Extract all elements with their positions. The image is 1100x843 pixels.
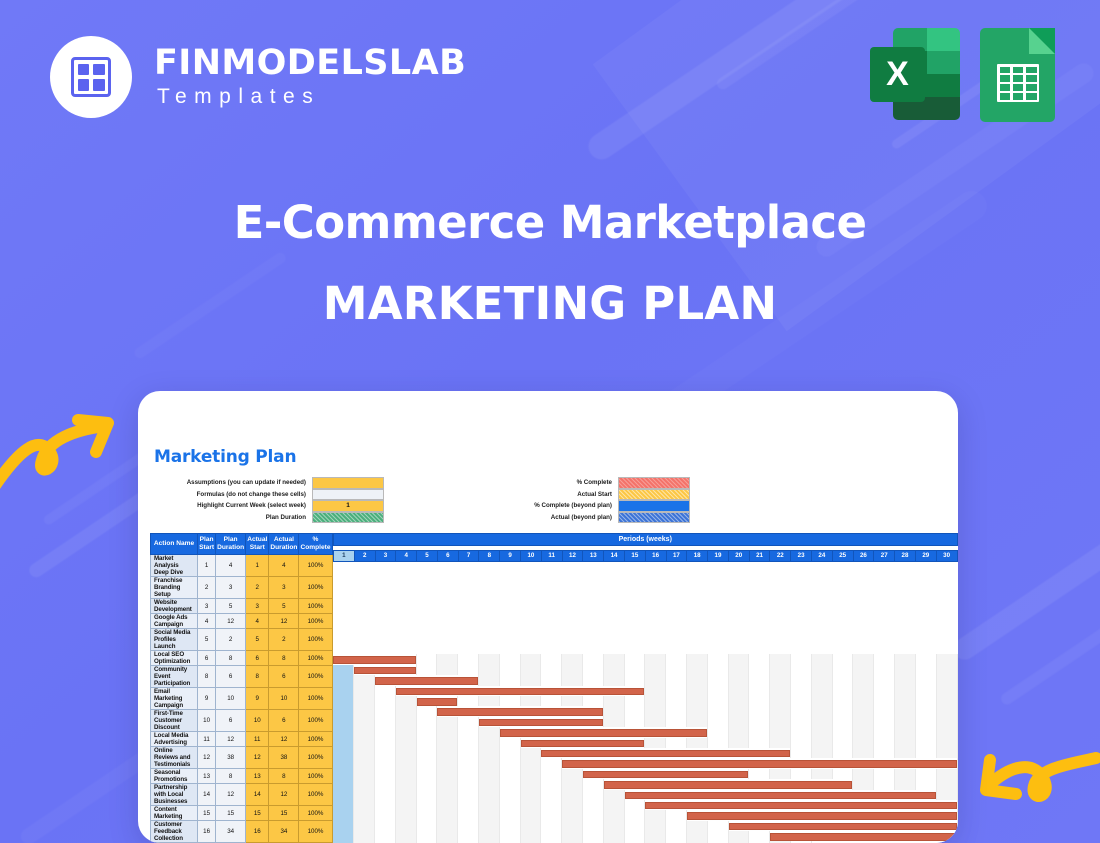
cell-plan-start[interactable]: 3	[198, 599, 216, 614]
gantt-week-26[interactable]: 26	[853, 551, 874, 561]
cell-percent-complete[interactable]: 100%	[299, 688, 332, 710]
page-title-line2: MARKETING PLAN	[0, 277, 1100, 330]
gantt-cell	[354, 686, 375, 696]
cell-actual-start[interactable]: 5	[246, 629, 269, 651]
gantt-cell	[395, 810, 416, 820]
gantt-cell	[333, 696, 354, 706]
gantt-cell	[624, 706, 645, 716]
gantt-week-header[interactable]: 1234567891011121314151617181920212223242…	[333, 546, 958, 566]
cell-action-name[interactable]: Local SEO Optimization	[151, 651, 198, 666]
gantt-cell	[562, 821, 583, 831]
gantt-cell	[707, 717, 728, 727]
table-row[interactable]: Local Media Advertising11121112100%	[151, 732, 333, 747]
cell-percent-complete[interactable]: 100%	[299, 555, 332, 577]
gantt-week-11[interactable]: 11	[541, 551, 562, 561]
gantt-cell	[687, 706, 708, 716]
cell-action-name[interactable]: Community Event Participation	[151, 666, 198, 688]
cell-plan-start[interactable]: 6	[198, 651, 216, 666]
gantt-cell	[499, 769, 520, 779]
gantt-cell	[520, 654, 541, 664]
gantt-cell	[395, 800, 416, 810]
gantt-cell	[936, 779, 957, 789]
gantt-cell	[603, 706, 624, 716]
gantt-cell	[832, 665, 853, 675]
cell-percent-complete[interactable]: 100%	[299, 784, 332, 806]
gantt-cell	[333, 748, 354, 758]
gantt-cell	[707, 738, 728, 748]
gantt-cell	[728, 717, 749, 727]
gantt-cell	[936, 727, 957, 737]
squiggle-arrow-up-right-icon	[0, 412, 127, 504]
gantt-cell	[687, 675, 708, 685]
cell-percent-complete[interactable]: 100%	[299, 747, 332, 769]
cell-percent-complete[interactable]: 100%	[299, 599, 332, 614]
gantt-cell	[832, 654, 853, 664]
gantt-week-3[interactable]: 3	[375, 551, 396, 561]
cell-plan-start[interactable]: 14	[198, 784, 216, 806]
cell-actual-duration[interactable]: 8	[269, 769, 299, 784]
cell-plan-start[interactable]: 9	[198, 688, 216, 710]
cell-plan-duration[interactable]: 38	[216, 747, 246, 769]
gantt-cell	[354, 779, 375, 789]
legend-swatch-green	[312, 512, 384, 524]
gantt-cell	[936, 769, 957, 779]
gantt-cell	[687, 717, 708, 727]
gantt-cell	[458, 790, 479, 800]
table-row[interactable]: Seasonal Promotions138138100%	[151, 769, 333, 784]
page-header: FINMODELSLAB Templates X	[0, 0, 1100, 150]
gantt-cell	[666, 696, 687, 706]
gantt-week-24[interactable]: 24	[811, 551, 832, 561]
cell-action-name[interactable]: Google Ads Campaign	[151, 614, 198, 629]
gantt-cell	[458, 810, 479, 820]
cell-percent-complete[interactable]: 100%	[299, 614, 332, 629]
cell-plan-start[interactable]: 15	[198, 806, 216, 821]
gantt-cell	[832, 686, 853, 696]
cell-plan-start[interactable]: 12	[198, 747, 216, 769]
gantt-cell	[707, 696, 728, 706]
cell-percent-complete[interactable]: 100%	[299, 732, 332, 747]
cell-action-name[interactable]: Customer Feedback Collection	[151, 821, 198, 843]
gantt-cell	[416, 790, 437, 800]
gantt-week-7[interactable]: 7	[458, 551, 479, 561]
gantt-cell	[915, 769, 936, 779]
gantt-cell	[770, 717, 791, 727]
cell-actual-start[interactable]: 11	[246, 732, 269, 747]
col-plan-start: Plan Start	[198, 534, 216, 555]
legend-right: % CompleteActual Start% Complete (beyond…	[476, 477, 690, 523]
gantt-cell	[354, 738, 375, 748]
gantt-week-13[interactable]: 13	[583, 551, 604, 561]
cell-actual-start[interactable]: 14	[246, 784, 269, 806]
gantt-week-15[interactable]: 15	[624, 551, 645, 561]
cell-actual-start[interactable]: 16	[246, 821, 269, 843]
gantt-cell	[375, 717, 396, 727]
cell-plan-duration[interactable]: 4	[216, 555, 246, 577]
cell-percent-complete[interactable]: 100%	[299, 710, 332, 732]
cell-actual-duration[interactable]: 4	[269, 555, 299, 577]
gantt-cell	[915, 748, 936, 758]
cell-action-name[interactable]: Social Media Profiles Launch	[151, 629, 198, 651]
gantt-cell	[437, 790, 458, 800]
google-sheets-icon[interactable]	[980, 28, 1055, 122]
cell-actual-start[interactable]: 8	[246, 666, 269, 688]
gantt-bar-cell	[583, 769, 749, 779]
cell-actual-start[interactable]: 6	[246, 651, 269, 666]
cell-action-name[interactable]: Online Reviews and Testimonials	[151, 747, 198, 769]
gantt-row	[333, 779, 957, 789]
gantt-cell	[541, 675, 562, 685]
gantt-cell	[499, 800, 520, 810]
gantt-week-10[interactable]: 10	[521, 551, 542, 561]
gantt-cell	[832, 727, 853, 737]
gantt-cell	[770, 727, 791, 737]
squiggle-arrow-down-left-icon	[960, 742, 1100, 838]
gantt-bar-cell	[375, 675, 479, 685]
cell-plan-duration[interactable]: 15	[216, 806, 246, 821]
gantt-cell	[437, 727, 458, 737]
gantt-cell	[499, 758, 520, 768]
gantt-bar-cell	[687, 810, 957, 820]
gantt-cell	[707, 821, 728, 831]
gantt-cell	[666, 810, 687, 820]
gantt-cell	[853, 665, 874, 675]
cell-plan-duration[interactable]: 34	[216, 821, 246, 843]
gantt-cell	[770, 696, 791, 706]
gantt-bar-cell	[624, 790, 936, 800]
gantt-row	[333, 717, 957, 727]
gantt-cell	[936, 717, 957, 727]
cell-plan-duration[interactable]: 6	[216, 666, 246, 688]
gantt-cell	[395, 696, 416, 706]
gantt-cell	[603, 665, 624, 675]
gantt-cell	[458, 748, 479, 758]
cell-percent-complete[interactable]: 100%	[299, 821, 332, 843]
cell-percent-complete[interactable]: 100%	[299, 629, 332, 651]
table-row[interactable]: Google Ads Campaign412412100%	[151, 614, 333, 629]
gantt-cell	[562, 696, 583, 706]
gantt-cell	[520, 769, 541, 779]
gantt-bar	[479, 719, 603, 727]
cell-actual-duration[interactable]: 3	[269, 577, 299, 599]
cell-plan-start[interactable]: 1	[198, 555, 216, 577]
cell-percent-complete[interactable]: 100%	[299, 666, 332, 688]
gantt-chart[interactable]: Periods (weeks) 123456789101112131415161…	[333, 533, 959, 843]
cell-plan-duration[interactable]: 10	[216, 688, 246, 710]
gantt-cell	[645, 686, 666, 696]
cell-actual-duration[interactable]: 8	[269, 651, 299, 666]
gantt-cell	[915, 727, 936, 737]
gantt-cell	[853, 654, 874, 664]
table-row[interactable]: Content Marketing15151515100%	[151, 806, 333, 821]
gantt-week-16[interactable]: 16	[645, 551, 666, 561]
gantt-cell	[603, 654, 624, 664]
cell-actual-start[interactable]: 2	[246, 577, 269, 599]
table-row[interactable]: First-Time Customer Discount106106100%	[151, 710, 333, 732]
gantt-cell	[666, 665, 687, 675]
legend-item-label: % Complete	[476, 477, 618, 489]
gantt-week-28[interactable]: 28	[895, 551, 916, 561]
table-row[interactable]: Website Development3535100%	[151, 599, 333, 614]
gantt-cell	[416, 727, 437, 737]
gantt-cell	[874, 675, 895, 685]
table-row[interactable]: Local SEO Optimization6868100%	[151, 651, 333, 666]
cell-plan-start[interactable]: 8	[198, 666, 216, 688]
gantt-week-9[interactable]: 9	[500, 551, 521, 561]
gantt-cell	[770, 665, 791, 675]
gantt-cell	[541, 758, 562, 768]
table-row[interactable]: Partnership with Local Businesses1412141…	[151, 784, 333, 806]
gantt-week-2[interactable]: 2	[354, 551, 375, 561]
gantt-week-5[interactable]: 5	[417, 551, 438, 561]
gantt-week-12[interactable]: 12	[562, 551, 583, 561]
cell-actual-duration[interactable]: 34	[269, 821, 299, 843]
task-table[interactable]: Action Name Plan Start Plan Duration Act…	[150, 533, 333, 843]
gantt-cell	[333, 727, 354, 737]
gantt-cell	[479, 779, 500, 789]
cell-actual-duration[interactable]: 12	[269, 732, 299, 747]
cell-actual-start[interactable]: 3	[246, 599, 269, 614]
legend-item: Assumptions (you can update if needed)	[154, 477, 384, 489]
gantt-cell	[811, 769, 832, 779]
gantt-cell	[791, 665, 812, 675]
cell-actual-duration[interactable]: 12	[269, 614, 299, 629]
cell-actual-duration[interactable]: 10	[269, 688, 299, 710]
cell-actual-duration[interactable]: 12	[269, 784, 299, 806]
gantt-week-17[interactable]: 17	[666, 551, 687, 561]
legend-left: Assumptions (you can update if needed)Fo…	[154, 477, 384, 523]
cell-plan-duration[interactable]: 12	[216, 614, 246, 629]
gantt-week-20[interactable]: 20	[728, 551, 749, 561]
gantt-cell	[416, 821, 437, 831]
gantt-cell	[749, 665, 770, 675]
gantt-cell	[562, 831, 583, 841]
gantt-cell	[583, 790, 604, 800]
gantt-bar	[375, 677, 478, 685]
gantt-cell	[333, 738, 354, 748]
gantt-cell	[354, 769, 375, 779]
cell-plan-duration[interactable]: 3	[216, 577, 246, 599]
gantt-cell	[791, 769, 812, 779]
legend-swatch-amber[interactable]: 1	[312, 500, 384, 512]
cell-plan-start[interactable]: 5	[198, 629, 216, 651]
gantt-week-23[interactable]: 23	[791, 551, 812, 561]
cell-plan-start[interactable]: 2	[198, 577, 216, 599]
gantt-cell	[499, 831, 520, 841]
gantt-row	[333, 706, 957, 716]
gantt-cell	[707, 675, 728, 685]
gantt-cell	[437, 665, 458, 675]
cell-action-name[interactable]: Website Development	[151, 599, 198, 614]
gantt-cell	[541, 779, 562, 789]
cell-percent-complete[interactable]: 100%	[299, 806, 332, 821]
gantt-cell	[687, 738, 708, 748]
gantt-week-19[interactable]: 19	[708, 551, 729, 561]
gantt-cell	[479, 727, 500, 737]
cell-plan-duration[interactable]: 6	[216, 710, 246, 732]
cell-actual-duration[interactable]: 38	[269, 747, 299, 769]
gantt-cell	[874, 696, 895, 706]
gantt-week-30[interactable]: 30	[936, 551, 957, 561]
cell-plan-duration[interactable]: 8	[216, 769, 246, 784]
cell-plan-start[interactable]: 4	[198, 614, 216, 629]
gantt-cell	[458, 727, 479, 737]
gantt-week-21[interactable]: 21	[749, 551, 770, 561]
gantt-cell	[645, 821, 666, 831]
gantt-cell	[707, 665, 728, 675]
gantt-cell	[583, 810, 604, 820]
gantt-cell	[479, 769, 500, 779]
gantt-cell	[541, 831, 562, 841]
gantt-week-14[interactable]: 14	[604, 551, 625, 561]
gantt-cell	[624, 696, 645, 706]
gantt-cell	[936, 748, 957, 758]
gantt-bar-cell	[499, 727, 707, 737]
cell-actual-start[interactable]: 9	[246, 688, 269, 710]
legend-item: % Complete	[476, 477, 690, 489]
table-row[interactable]: Social Media Profiles Launch5252100%	[151, 629, 333, 651]
legend-item-label: Formulas (do not change these cells)	[154, 489, 312, 501]
gantt-week-6[interactable]: 6	[437, 551, 458, 561]
gantt-week-27[interactable]: 27	[874, 551, 895, 561]
gantt-cell	[499, 810, 520, 820]
gantt-bar-cell	[562, 758, 957, 768]
legend-item: Highlight Current Week (select week)1	[154, 500, 384, 512]
cell-actual-start[interactable]: 13	[246, 769, 269, 784]
cell-action-name[interactable]: Seasonal Promotions	[151, 769, 198, 784]
gantt-week-8[interactable]: 8	[479, 551, 500, 561]
cell-action-name[interactable]: Email Marketing Campaign	[151, 688, 198, 710]
gantt-cell	[541, 696, 562, 706]
gantt-cell	[853, 779, 874, 789]
gantt-week-25[interactable]: 25	[832, 551, 853, 561]
gantt-cell	[333, 779, 354, 789]
gantt-cell	[437, 779, 458, 789]
cell-action-name[interactable]: First-Time Customer Discount	[151, 710, 198, 732]
gantt-cell	[666, 738, 687, 748]
cell-actual-start[interactable]: 15	[246, 806, 269, 821]
gantt-week-22[interactable]: 22	[770, 551, 791, 561]
excel-icon[interactable]: X	[870, 28, 960, 120]
gantt-cell	[895, 654, 916, 664]
gantt-week-4[interactable]: 4	[396, 551, 417, 561]
gantt-cell	[395, 738, 416, 748]
cell-plan-start[interactable]: 11	[198, 732, 216, 747]
cell-actual-duration[interactable]: 6	[269, 710, 299, 732]
cell-percent-complete[interactable]: 100%	[299, 769, 332, 784]
gantt-cell	[936, 675, 957, 685]
sheet-grid[interactable]: Action Name Plan Start Plan Duration Act…	[150, 533, 958, 843]
brand-logo[interactable]: FINMODELSLAB Templates	[50, 36, 466, 118]
legend-swatch-blue-hatch	[618, 512, 690, 524]
cell-actual-start[interactable]: 12	[246, 747, 269, 769]
gantt-cell	[583, 654, 604, 664]
cell-plan-duration[interactable]: 8	[216, 651, 246, 666]
gantt-cell	[437, 821, 458, 831]
gantt-cell	[770, 675, 791, 685]
gantt-cell	[832, 706, 853, 716]
cell-actual-duration[interactable]: 5	[269, 599, 299, 614]
gantt-cell	[915, 686, 936, 696]
gantt-cell	[811, 686, 832, 696]
cell-action-name[interactable]: Local Media Advertising	[151, 732, 198, 747]
gantt-cell	[354, 748, 375, 758]
gantt-cell	[874, 717, 895, 727]
cell-action-name[interactable]: Market Analysis Deep Dive	[151, 555, 198, 577]
gantt-cell	[895, 738, 916, 748]
gantt-cell	[936, 686, 957, 696]
cell-plan-start[interactable]: 16	[198, 821, 216, 843]
legend-item-label: Actual (beyond plan)	[476, 512, 618, 524]
table-row[interactable]: Community Event Participation8686100%	[151, 666, 333, 688]
gantt-week-1[interactable]: 1	[334, 551, 355, 561]
gantt-cell	[874, 748, 895, 758]
gantt-cell	[499, 675, 520, 685]
gantt-row	[333, 810, 957, 820]
cell-actual-start[interactable]: 4	[246, 614, 269, 629]
brand-name: FINMODELSLAB	[154, 45, 466, 82]
cell-actual-duration[interactable]: 15	[269, 806, 299, 821]
gantt-cell	[915, 706, 936, 716]
table-row[interactable]: Franchise Branding Setup2323100%	[151, 577, 333, 599]
gantt-cell	[624, 717, 645, 727]
cell-actual-duration[interactable]: 6	[269, 666, 299, 688]
gantt-cell	[354, 706, 375, 716]
cell-plan-start[interactable]: 13	[198, 769, 216, 784]
gantt-cell	[853, 717, 874, 727]
cell-action-name[interactable]: Franchise Branding Setup	[151, 577, 198, 599]
gantt-cell	[437, 758, 458, 768]
cell-plan-duration[interactable]: 12	[216, 732, 246, 747]
gantt-cell	[895, 748, 916, 758]
cell-plan-duration[interactable]: 12	[216, 784, 246, 806]
gantt-week-29[interactable]: 29	[915, 551, 936, 561]
col-percent-complete: % Complete	[299, 534, 332, 555]
gantt-cell	[458, 665, 479, 675]
cell-action-name[interactable]: Partnership with Local Businesses	[151, 784, 198, 806]
gantt-cell	[416, 706, 437, 716]
cell-plan-start[interactable]: 10	[198, 710, 216, 732]
table-row[interactable]: Online Reviews and Testimonials123812381…	[151, 747, 333, 769]
gantt-cell	[375, 758, 396, 768]
gantt-bar	[729, 823, 957, 831]
gantt-cell	[354, 790, 375, 800]
table-row[interactable]: Email Marketing Campaign910910100%	[151, 688, 333, 710]
gantt-cell	[479, 654, 500, 664]
gantt-cell	[874, 706, 895, 716]
gantt-cell	[479, 675, 500, 685]
cell-action-name[interactable]: Content Marketing	[151, 806, 198, 821]
gantt-cell	[437, 738, 458, 748]
gantt-cell	[499, 748, 520, 758]
cell-percent-complete[interactable]: 100%	[299, 651, 332, 666]
gantt-week-18[interactable]: 18	[687, 551, 708, 561]
gantt-cell	[541, 654, 562, 664]
col-plan-duration: Plan Duration	[216, 534, 246, 555]
cell-actual-start[interactable]: 10	[246, 710, 269, 732]
cell-percent-complete[interactable]: 100%	[299, 577, 332, 599]
gantt-cell	[499, 696, 520, 706]
cell-actual-start[interactable]: 1	[246, 555, 269, 577]
gantt-cell	[666, 654, 687, 664]
cell-plan-duration[interactable]: 2	[216, 629, 246, 651]
table-row[interactable]: Customer Feedback Collection16341634100%	[151, 821, 333, 843]
cell-plan-duration[interactable]: 5	[216, 599, 246, 614]
gantt-cell	[853, 675, 874, 685]
gantt-bar-cell	[645, 800, 957, 810]
table-row[interactable]: Market Analysis Deep Dive1414100%	[151, 555, 333, 577]
cell-actual-duration[interactable]: 2	[269, 629, 299, 651]
